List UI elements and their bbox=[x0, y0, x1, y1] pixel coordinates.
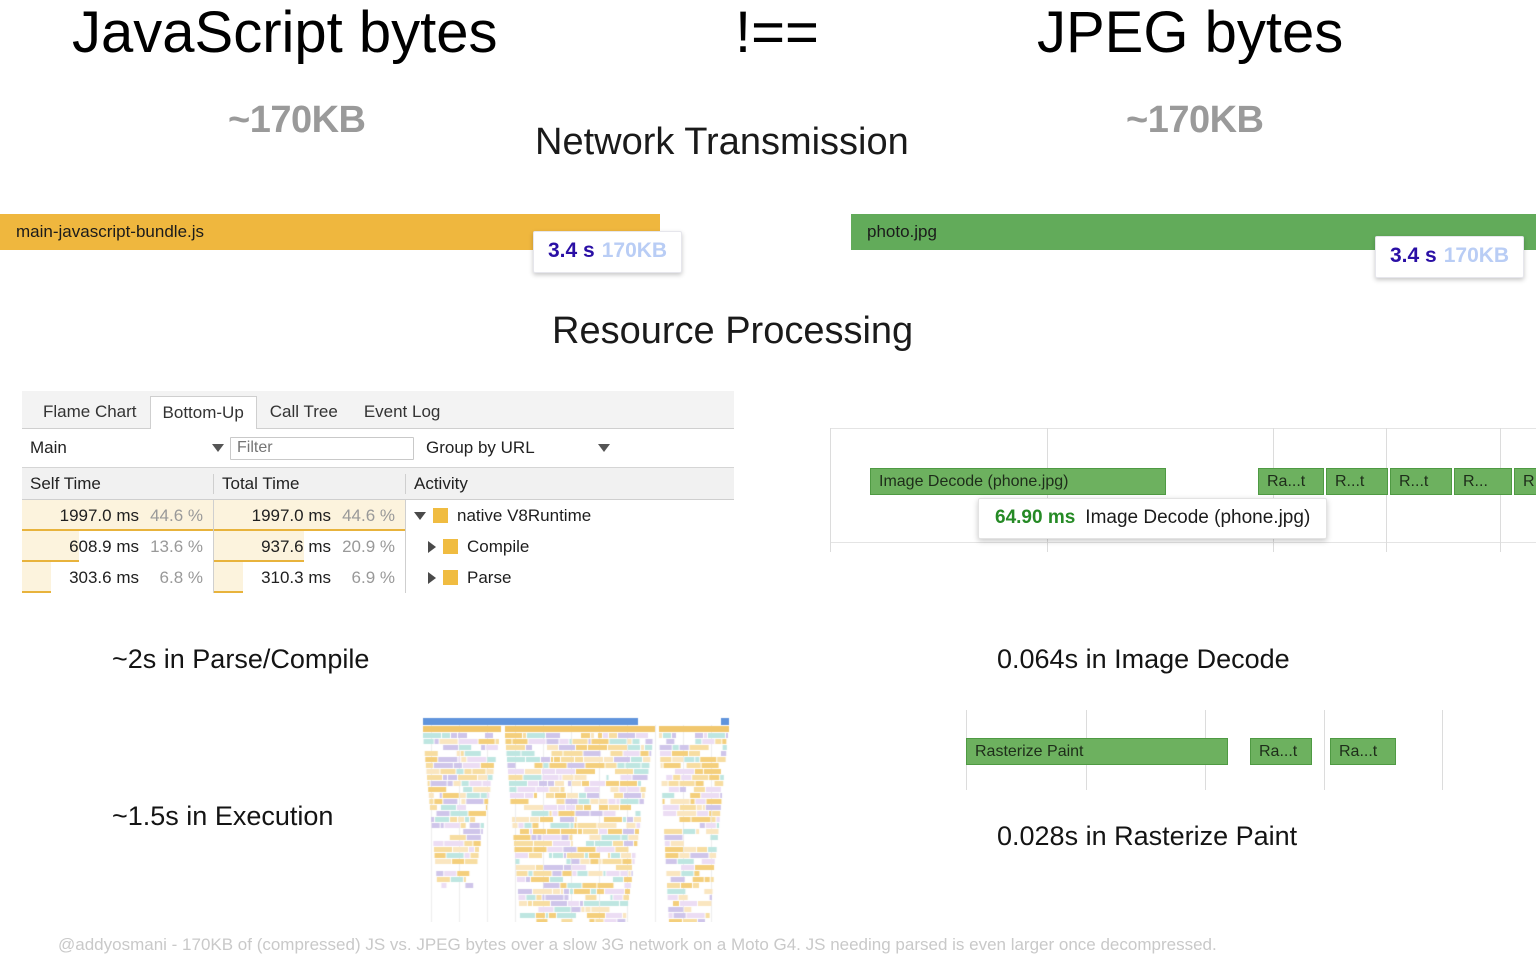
timeline-event[interactable]: R...t bbox=[1390, 468, 1452, 495]
tooltip-time-jpeg: 3.4 s bbox=[1390, 244, 1437, 267]
column-header-total-time[interactable]: Total Time bbox=[214, 474, 406, 494]
note-execution: ~1.5s in Execution bbox=[112, 801, 333, 832]
cell-total-time: 310.3 ms6.9 % bbox=[214, 562, 406, 593]
activity-color-swatch bbox=[433, 508, 448, 523]
network-tooltip-jpeg: 3.4 s170KB bbox=[1375, 236, 1524, 278]
timeline-rule-bottom bbox=[830, 542, 1536, 543]
column-header-activity[interactable]: Activity bbox=[406, 474, 734, 494]
total-time-value: 1997.0 ms bbox=[252, 506, 331, 526]
timeline-event[interactable]: Image Decode (phone.jpg) bbox=[870, 468, 1166, 495]
note-image-decode: 0.064s in Image Decode bbox=[997, 644, 1290, 675]
timeline-event[interactable]: R... bbox=[1454, 468, 1512, 495]
table-header: Self Time Total Time Activity bbox=[22, 468, 734, 500]
flame-chart-thumbnail[interactable] bbox=[421, 717, 731, 922]
column-header-self-time[interactable]: Self Time bbox=[22, 474, 214, 494]
activity-label: Compile bbox=[467, 537, 529, 557]
filter-input[interactable] bbox=[230, 437, 414, 460]
tab-bottom-up[interactable]: Bottom-Up bbox=[150, 396, 257, 429]
footer-caption: @addyosmani - 170KB of (compressed) JS v… bbox=[58, 935, 1217, 955]
table-row[interactable]: 303.6 ms6.8 %310.3 ms6.9 %Parse bbox=[22, 562, 734, 593]
chevron-down-icon[interactable] bbox=[414, 512, 426, 520]
headline-jpeg: JPEG bytes bbox=[1037, 4, 1343, 62]
timeline-event[interactable]: Rasterize Paint bbox=[966, 738, 1228, 765]
note-rasterize-paint: 0.028s in Rasterize Paint bbox=[997, 821, 1297, 852]
size-label-javascript: ~170KB bbox=[228, 99, 365, 142]
grouping-select-value: Group by URL bbox=[426, 438, 535, 458]
chevron-right-icon[interactable] bbox=[428, 572, 436, 584]
tab-call-tree[interactable]: Call Tree bbox=[257, 395, 351, 428]
headline-operator: !== bbox=[735, 4, 819, 62]
total-time-value: 310.3 ms bbox=[261, 568, 331, 588]
cell-self-time: 1997.0 ms44.6 % bbox=[22, 500, 214, 531]
self-time-percent: 44.6 % bbox=[149, 506, 203, 526]
self-time-value: 303.6 ms bbox=[69, 568, 139, 588]
network-tooltip-javascript: 3.4 s170KB bbox=[533, 231, 682, 273]
self-time-value: 1997.0 ms bbox=[60, 506, 139, 526]
cell-total-time: 937.6 ms20.9 % bbox=[214, 531, 406, 562]
tab-flame-chart[interactable]: Flame Chart bbox=[30, 395, 150, 428]
network-bar-jpeg-label: photo.jpg bbox=[851, 222, 937, 242]
total-time-percent: 44.6 % bbox=[341, 506, 395, 526]
section-title-network-transmission: Network Transmission bbox=[535, 121, 909, 164]
timeline-event[interactable]: R bbox=[1514, 468, 1536, 495]
timeline-event[interactable]: R...t bbox=[1326, 468, 1388, 495]
note-parse-compile: ~2s in Parse/Compile bbox=[112, 644, 369, 675]
timeline-rasterize-paint: Rasterize PaintRa...tRa...t bbox=[940, 710, 1536, 790]
timeline-event[interactable]: Ra...t bbox=[1250, 738, 1312, 765]
tooltip-time-javascript: 3.4 s bbox=[548, 239, 595, 262]
gridline bbox=[1442, 710, 1443, 790]
activity-label: native V8Runtime bbox=[457, 506, 591, 526]
chevron-down-icon bbox=[598, 444, 610, 452]
self-time-percent: 6.8 % bbox=[149, 568, 203, 588]
activity-label: Parse bbox=[467, 568, 511, 588]
chevron-right-icon[interactable] bbox=[428, 541, 436, 553]
timeline-event[interactable]: Ra...t bbox=[1258, 468, 1324, 495]
tooltip-size-javascript: 170KB bbox=[602, 239, 667, 262]
chevron-down-icon bbox=[212, 444, 224, 452]
tooltip-label-image-decode: Image Decode (phone.jpg) bbox=[1085, 507, 1310, 528]
gridline bbox=[1324, 710, 1325, 790]
tooltip-duration-image-decode: 64.90 ms bbox=[995, 507, 1075, 528]
devtools-tabbar: Flame Chart Bottom-Up Call Tree Event Lo… bbox=[22, 391, 734, 429]
table-row[interactable]: 1997.0 ms44.6 %1997.0 ms44.6 %native V8R… bbox=[22, 500, 734, 531]
flame-chart-canvas bbox=[421, 717, 731, 922]
cell-activity: native V8Runtime bbox=[406, 506, 734, 526]
timeline-rule-top bbox=[830, 428, 1536, 429]
activity-color-swatch bbox=[443, 539, 458, 554]
grouping-select[interactable]: Group by URL bbox=[426, 438, 616, 458]
cell-self-time: 303.6 ms6.8 % bbox=[22, 562, 214, 593]
total-time-value: 937.6 ms bbox=[261, 537, 331, 557]
tooltip-size-jpeg: 170KB bbox=[1444, 244, 1509, 267]
total-time-percent: 6.9 % bbox=[341, 568, 395, 588]
self-time-percent: 13.6 % bbox=[149, 537, 203, 557]
self-time-value: 608.9 ms bbox=[69, 537, 139, 557]
scope-select-value: Main bbox=[30, 438, 67, 458]
table-body: 1997.0 ms44.6 %1997.0 ms44.6 %native V8R… bbox=[22, 500, 734, 593]
table-row[interactable]: 608.9 ms13.6 %937.6 ms20.9 %Compile bbox=[22, 531, 734, 562]
timeline-event[interactable]: Ra...t bbox=[1330, 738, 1396, 765]
cell-total-time: 1997.0 ms44.6 % bbox=[214, 500, 406, 531]
size-label-jpeg: ~170KB bbox=[1126, 99, 1263, 142]
activity-color-swatch bbox=[443, 570, 458, 585]
devtools-performance-panel: Flame Chart Bottom-Up Call Tree Event Lo… bbox=[22, 391, 734, 593]
section-title-resource-processing: Resource Processing bbox=[552, 310, 913, 353]
devtools-toolbar: Main Group by URL bbox=[22, 429, 734, 468]
headline-javascript: JavaScript bytes bbox=[72, 4, 498, 62]
tab-event-log[interactable]: Event Log bbox=[351, 395, 454, 428]
cell-self-time: 608.9 ms13.6 % bbox=[22, 531, 214, 562]
timeline-tooltip-image-decode: 64.90 msImage Decode (phone.jpg) bbox=[978, 498, 1327, 539]
cell-activity: Parse bbox=[406, 568, 734, 588]
cell-activity: Compile bbox=[406, 537, 734, 557]
gridline bbox=[830, 428, 831, 552]
scope-select[interactable]: Main bbox=[30, 438, 230, 458]
total-time-percent: 20.9 % bbox=[341, 537, 395, 557]
network-bar-javascript-label: main-javascript-bundle.js bbox=[0, 222, 204, 242]
